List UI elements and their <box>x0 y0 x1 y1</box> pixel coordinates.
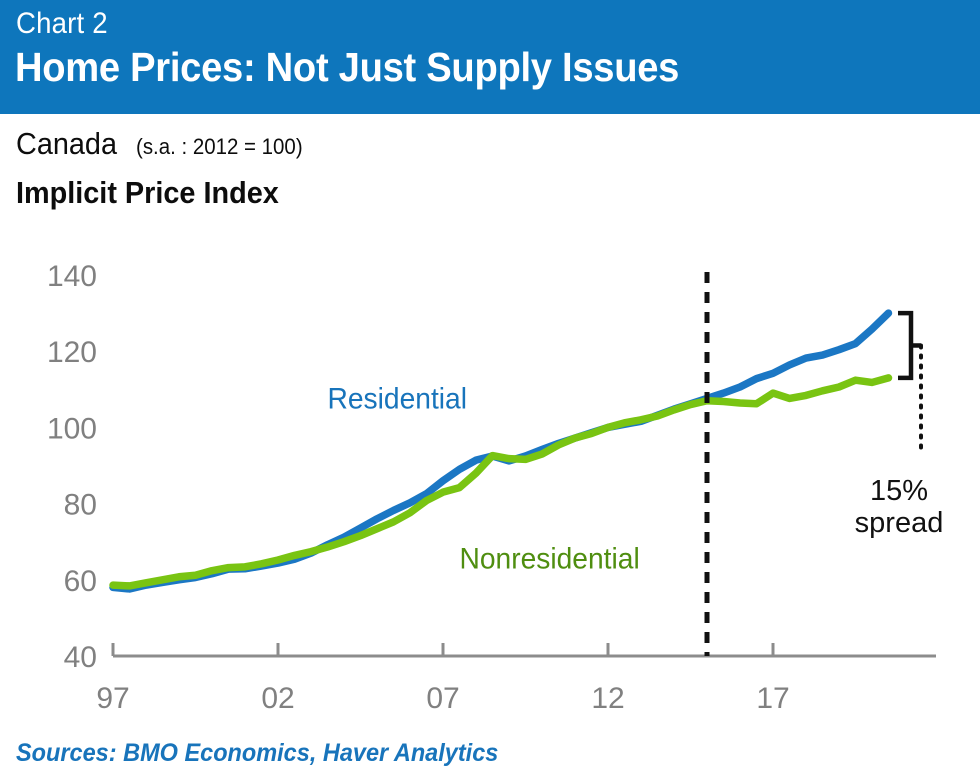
spread-bracket <box>898 313 911 378</box>
y-axis-tick-label: 80 <box>64 489 97 522</box>
spread-word-label: spread <box>855 507 944 539</box>
x-axis-tick-label: 07 <box>426 682 459 715</box>
x-axis-tick-label: 97 <box>96 682 129 715</box>
y-axis-tick-label: 140 <box>47 260 97 293</box>
series-label-residential: Residential <box>327 383 466 416</box>
y-axis-tick-label: 100 <box>47 412 97 445</box>
x-axis-tick-label: 12 <box>591 682 624 715</box>
axes-group: 4060801001201409702071217 <box>47 260 936 715</box>
chart-page: Chart 2 Home Prices: Not Just Supply Iss… <box>0 0 980 781</box>
y-axis-tick-label: 60 <box>64 565 97 598</box>
y-axis-tick-label: 40 <box>64 641 97 674</box>
series-labels-group: ResidentialNonresidential <box>327 383 639 576</box>
y-axis-tick-label: 120 <box>47 336 97 369</box>
series-label-nonresidential: Nonresidential <box>459 543 639 576</box>
plot-area: 4060801001201409702071217 15%spread Resi… <box>0 0 980 781</box>
x-axis-tick-label: 02 <box>261 682 294 715</box>
chart-svg: 4060801001201409702071217 15%spread Resi… <box>0 0 980 781</box>
spread-value-label: 15% <box>870 475 928 507</box>
annotation-group: 15%spread <box>707 272 943 656</box>
x-axis-tick-label: 17 <box>756 682 789 715</box>
sources-note: Sources: BMO Economics, Haver Analytics <box>16 739 498 768</box>
